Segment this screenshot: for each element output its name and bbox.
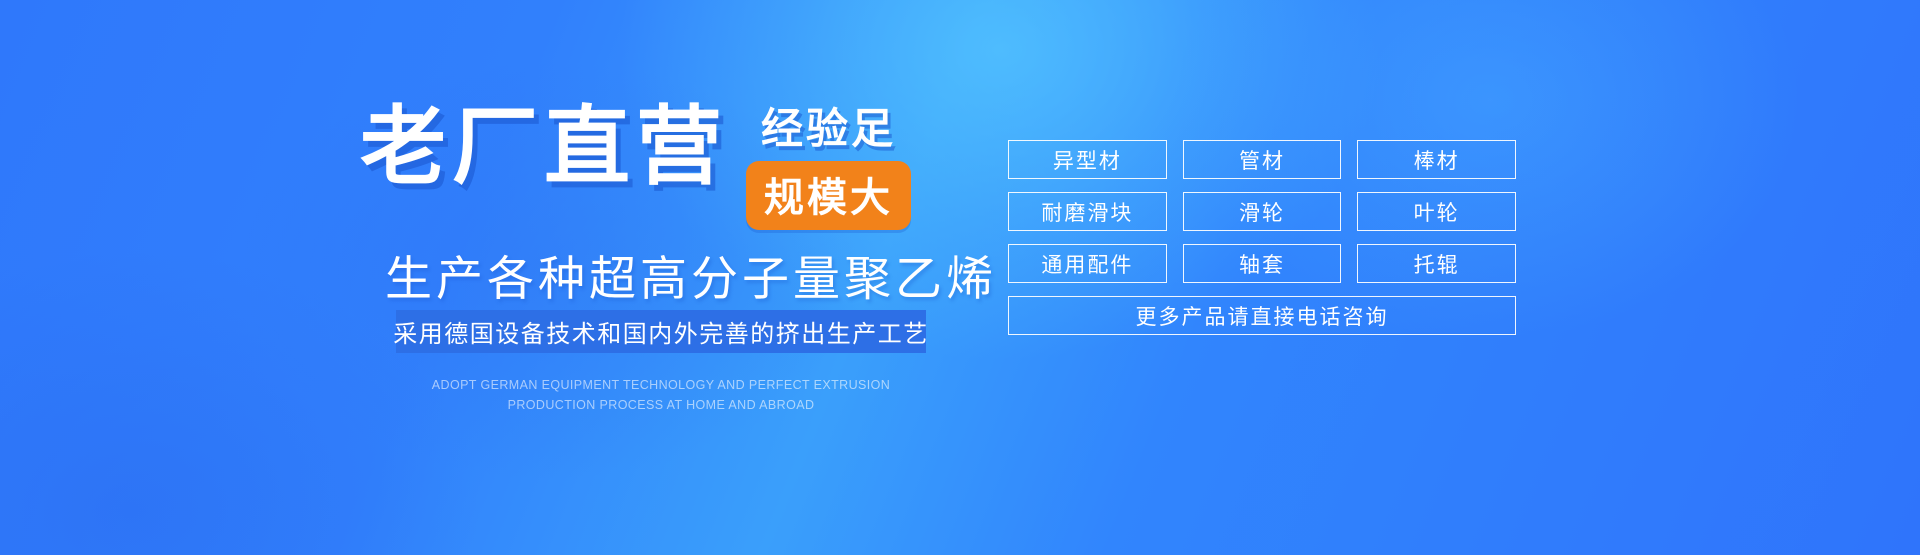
badge-scale: 规模大 <box>746 161 911 230</box>
category-button-pipe[interactable]: 管材 <box>1183 140 1342 179</box>
english-subtitle-line2: PRODUCTION PROCESS AT HOME AND ABROAD <box>396 395 926 415</box>
category-button-impeller[interactable]: 叶轮 <box>1357 192 1516 231</box>
tagline-text: 采用德国设备技术和国内外完善的挤出生产工艺 <box>393 314 929 349</box>
category-button-pulley[interactable]: 滑轮 <box>1183 192 1342 231</box>
category-grid: 异型材 管材 棒材 耐磨滑块 滑轮 叶轮 通用配件 轴套 托辊 更多产品请直接电… <box>1008 140 1516 348</box>
category-row-3: 通用配件 轴套 托辊 <box>1008 244 1516 283</box>
banner-left-content: 老厂直营 经验足 规模大 生产各种超高分子量聚乙烯 采用德国设备技术和国内外完善… <box>0 0 990 555</box>
category-button-rod[interactable]: 棒材 <box>1357 140 1516 179</box>
english-subtitle: ADOPT GERMAN EQUIPMENT TECHNOLOGY AND PE… <box>396 375 926 416</box>
subheadline: 生产各种超高分子量聚乙烯 <box>385 240 997 309</box>
tagline-bar: 采用德国设备技术和国内外完善的挤出生产工艺 <box>396 310 926 353</box>
contact-cta-button[interactable]: 更多产品请直接电话咨询 <box>1008 296 1516 335</box>
category-button-idler-roller[interactable]: 托辊 <box>1357 244 1516 283</box>
category-row-2: 耐磨滑块 滑轮 叶轮 <box>1008 192 1516 231</box>
english-subtitle-line1: ADOPT GERMAN EQUIPMENT TECHNOLOGY AND PE… <box>396 375 926 395</box>
badge-experience: 经验足 <box>761 106 896 152</box>
category-button-profile[interactable]: 异型材 <box>1008 140 1167 179</box>
category-button-general-parts[interactable]: 通用配件 <box>1008 244 1167 283</box>
category-button-bushing[interactable]: 轴套 <box>1183 244 1342 283</box>
category-button-wear-slider[interactable]: 耐磨滑块 <box>1008 192 1167 231</box>
promo-banner: 老厂直营 经验足 规模大 生产各种超高分子量聚乙烯 采用德国设备技术和国内外完善… <box>0 0 1920 555</box>
badge-group: 经验足 规模大 <box>746 106 911 230</box>
headline-group: 老厂直营 经验足 规模大 <box>360 104 911 230</box>
category-row-cta: 更多产品请直接电话咨询 <box>1008 296 1516 335</box>
page-title: 老厂直营 <box>360 104 728 192</box>
category-row-1: 异型材 管材 棒材 <box>1008 140 1516 179</box>
